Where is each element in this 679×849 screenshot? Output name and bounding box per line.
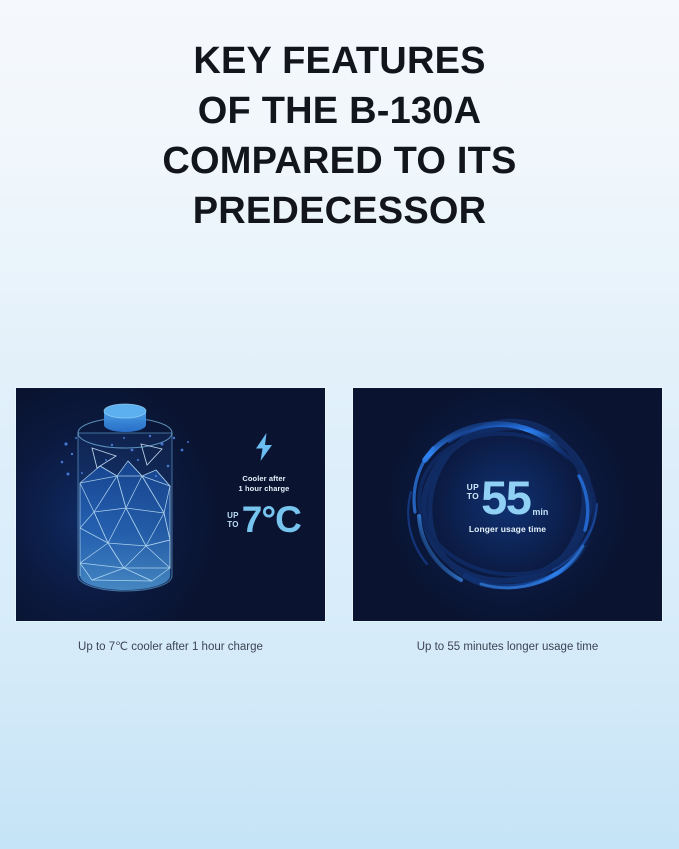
page-title-line-1: KEY FEATURES (0, 36, 679, 86)
usage-label: Longer usage time (413, 524, 603, 534)
caption-usage-time: Up to 55 minutes longer usage time (353, 639, 662, 656)
usage-value: 55 (481, 476, 530, 520)
page-title: KEY FEATURES OF THE B-130A COMPARED TO I… (0, 36, 679, 236)
caption-cooling: Up to 7℃ cooler after 1 hour charge (16, 639, 325, 656)
cooling-value: 7°C (242, 501, 301, 538)
feature-comparison-page: KEY FEATURES OF THE B-130A COMPARED TO I… (0, 0, 679, 849)
cooling-upto-line-2: TO (227, 520, 239, 529)
cooling-text-block: Cooler after 1 hour charge UP TO 7°C (212, 432, 316, 538)
feature-panel-cooling: Cooler after 1 hour charge UP TO 7°C (16, 388, 325, 621)
cooling-value-row: UP TO 7°C (212, 501, 316, 538)
usage-upto-line-2: TO (467, 492, 479, 502)
usage-value-row: UP TO 55 min (413, 476, 603, 520)
cooling-label-line-1: Cooler after (212, 474, 316, 484)
feature-panel-usage-time: UP TO 55 min Longer usage time (353, 388, 662, 621)
cooling-label: Cooler after 1 hour charge (212, 474, 316, 494)
cooling-upto-line-1: UP (227, 511, 239, 520)
page-title-line-2: OF THE B-130A (0, 86, 679, 136)
usage-text-block: UP TO 55 min Longer usage time (413, 476, 603, 534)
cooling-upto-label: UP TO (227, 511, 239, 529)
lightning-bolt-icon (212, 432, 316, 462)
page-title-line-3: COMPARED TO ITS (0, 136, 679, 186)
usage-upto-label: UP TO (467, 483, 479, 502)
feature-panels: Cooler after 1 hour charge UP TO 7°C (16, 388, 663, 621)
page-title-line-4: PREDECESSOR (0, 186, 679, 236)
usage-unit: min (532, 507, 548, 517)
panel-captions: Up to 7℃ cooler after 1 hour charge Up t… (16, 639, 663, 661)
cooling-label-line-2: 1 hour charge (212, 484, 316, 494)
